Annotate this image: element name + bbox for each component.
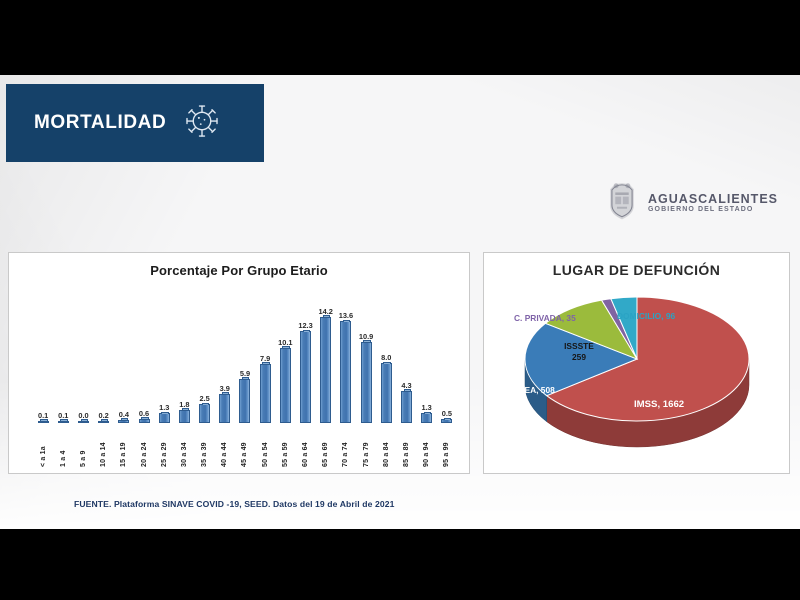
bar-column: 10.9 [356, 285, 376, 423]
x-axis-label-cell: 95 a 99 [437, 427, 457, 467]
presentation-slide: MORTALIDAD [0, 75, 800, 529]
bar-column: 0.2 [94, 285, 114, 423]
bar-column: 1.8 [174, 285, 194, 423]
bar-column: 1.3 [154, 285, 174, 423]
page-title: MORTALIDAD [34, 112, 166, 134]
x-axis-label-cell: 55 a 59 [275, 427, 295, 467]
x-axis-label: 70 a 74 [342, 427, 349, 467]
bar-chart-x-axis-labels: < a 1a1 a 45 a 910 a 1415 a 1920 a 2425 … [23, 427, 463, 467]
bar-chart-title: Porcentaje Por Grupo Etario [9, 253, 469, 278]
bar-column: 4.3 [396, 285, 416, 423]
bar-column: 3.9 [215, 285, 235, 423]
x-axis-label: 1 a 4 [60, 427, 67, 467]
bar-column: 0.0 [73, 285, 93, 423]
x-axis-label-cell: 45 a 49 [235, 427, 255, 467]
x-axis-label-cell: 20 a 24 [134, 427, 154, 467]
x-axis-label: 30 a 34 [181, 427, 188, 467]
bar [38, 421, 49, 423]
bar [260, 364, 271, 423]
bar-column: 0.6 [134, 285, 154, 423]
x-axis-label: 10 a 14 [100, 427, 107, 467]
x-axis-label-cell: 50 a 54 [255, 427, 275, 467]
bar [361, 342, 372, 423]
x-axis-label: 5 a 9 [80, 427, 87, 467]
x-axis-label-cell: 70 a 74 [336, 427, 356, 467]
x-axis-label: 45 a 49 [241, 427, 248, 467]
x-axis-label-cell: 5 a 9 [73, 427, 93, 467]
video-stage: MORTALIDAD [0, 0, 800, 600]
bar-column: 0.1 [53, 285, 73, 423]
pie-chart-panel: LUGAR DE DEFUNCIÓN C. PRIVADA, 35 DOMICI… [483, 252, 790, 474]
bar [401, 391, 412, 423]
x-axis-label: 95 a 99 [443, 427, 450, 467]
x-axis-label-cell: < a 1a [33, 427, 53, 467]
bar [179, 410, 190, 423]
bar-column: 2.5 [195, 285, 215, 423]
bar-column: 0.5 [437, 285, 457, 423]
pie-label-issste-value: 259 [558, 352, 600, 363]
bar [58, 421, 69, 423]
x-axis-label: 55 a 59 [282, 427, 289, 467]
x-axis-label: 20 a 24 [141, 427, 148, 467]
bar-column: 10.1 [275, 285, 295, 423]
x-axis-label-cell: 65 a 69 [316, 427, 336, 467]
aguascalientes-crest-icon [605, 179, 639, 226]
bar [219, 394, 230, 423]
bar-column: 8.0 [376, 285, 396, 423]
bar [199, 404, 210, 423]
bar [441, 419, 452, 423]
x-axis-label: 60 a 64 [302, 427, 309, 467]
logo-text: AGUASCALIENTES GOBIERNO DEL ESTADO [648, 192, 778, 214]
pie-chart-plot: C. PRIVADA, 35 DOMICILIO, 96 ISSSTE 259 … [484, 281, 789, 467]
x-axis-label-cell: 85 a 89 [396, 427, 416, 467]
x-axis-label: 35 a 39 [201, 427, 208, 467]
bar [300, 331, 311, 423]
x-axis-label: 90 a 94 [423, 427, 430, 467]
pie-label-issste: ISSSTE 259 [558, 341, 600, 362]
x-axis-label: 65 a 69 [322, 427, 329, 467]
x-axis-label-cell: 60 a 64 [295, 427, 315, 467]
bar [98, 421, 109, 423]
logo-line-2: GOBIERNO DEL ESTADO [648, 206, 778, 214]
x-axis-label: < a 1a [40, 427, 47, 467]
government-logo: AGUASCALIENTES GOBIERNO DEL ESTADO [605, 179, 778, 226]
pie-label-c-privada: C. PRIVADA, 35 [514, 313, 576, 323]
bar-column: 5.9 [235, 285, 255, 423]
bar-column: 12.3 [295, 285, 315, 423]
bar-column: 0.1 [33, 285, 53, 423]
bar-series: 0.10.10.00.20.40.61.31.82.53.95.97.910.1… [23, 285, 463, 423]
x-axis-label-cell: 1 a 4 [53, 427, 73, 467]
x-axis-label-cell: 25 a 29 [154, 427, 174, 467]
pie-label-imss: IMSS, 1662 [634, 399, 684, 410]
bar [139, 419, 150, 423]
bar-column: 7.9 [255, 285, 275, 423]
bar [320, 317, 331, 423]
pie-3d-graphic [502, 281, 772, 449]
pie-label-domicilio: DOMICILIO, 96 [617, 311, 675, 321]
coronavirus-icon [182, 101, 222, 146]
x-axis-label: 40 a 44 [221, 427, 228, 467]
bar-column: 14.2 [316, 285, 336, 423]
bar [118, 420, 129, 423]
bar-chart-panel: Porcentaje Por Grupo Etario 0.10.10.00.2… [8, 252, 470, 474]
x-axis-label-cell: 10 a 14 [94, 427, 114, 467]
bar [78, 421, 89, 423]
x-axis-label-cell: 75 a 79 [356, 427, 376, 467]
bar-column: 0.4 [114, 285, 134, 423]
x-axis-label: 85 a 89 [403, 427, 410, 467]
bar-column: 13.6 [336, 285, 356, 423]
source-note: FUENTE. Plataforma SINAVE COVID -19, SEE… [74, 499, 395, 509]
x-axis-label: 75 a 79 [363, 427, 370, 467]
x-axis-label: 50 a 54 [262, 427, 269, 467]
x-axis-label-cell: 35 a 39 [195, 427, 215, 467]
x-axis-label-cell: 15 a 19 [114, 427, 134, 467]
bar [421, 413, 432, 423]
pie-label-issste-name: ISSSTE [558, 341, 600, 352]
x-axis-label: 15 a 19 [120, 427, 127, 467]
bar-column: 1.3 [417, 285, 437, 423]
mortalidad-title-banner: MORTALIDAD [6, 84, 264, 162]
bar [280, 348, 291, 423]
x-axis-label-cell: 90 a 94 [417, 427, 437, 467]
bar [340, 321, 351, 423]
bar [381, 363, 392, 423]
x-axis-label: 25 a 29 [161, 427, 168, 467]
logo-line-1: AGUASCALIENTES [648, 192, 778, 206]
x-axis-label-cell: 40 a 44 [215, 427, 235, 467]
x-axis-label-cell: 30 a 34 [174, 427, 194, 467]
pie-label-issea: ISSEA, 508 [511, 385, 555, 395]
x-axis-label-cell: 80 a 84 [376, 427, 396, 467]
bar [159, 413, 170, 423]
bar [239, 379, 250, 423]
pie-chart-title: LUGAR DE DEFUNCIÓN [484, 253, 789, 278]
bar-chart-plot: 0.10.10.00.20.40.61.31.82.53.95.97.910.1… [23, 285, 463, 423]
x-axis-label: 80 a 84 [383, 427, 390, 467]
